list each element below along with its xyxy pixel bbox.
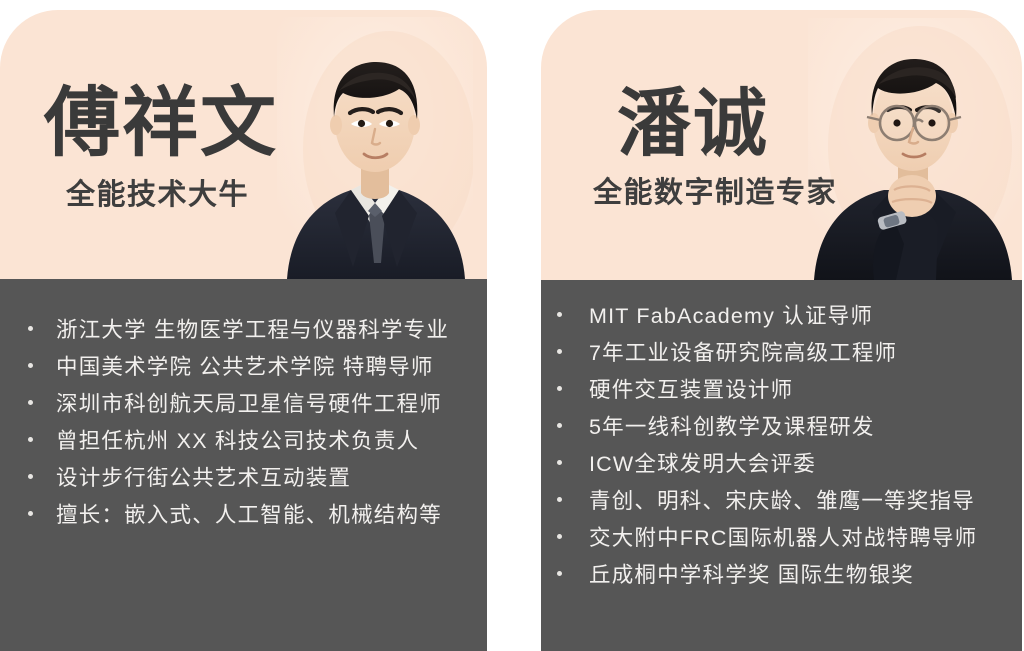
bullet-dot-icon xyxy=(28,400,33,405)
card-header-text-block: 潘诚 全能数字制造专家 xyxy=(541,88,1022,211)
card-header-text-block: 傅祥文 全能技术大牛 xyxy=(0,88,487,213)
credential-text: 浙江大学 生物医学工程与仪器科学专业 xyxy=(56,312,449,349)
credential-item: 5年一线科创教学及课程研发 xyxy=(541,409,1022,446)
bullet-dot-icon xyxy=(557,349,562,354)
bullet-dot-icon xyxy=(28,437,33,442)
card-body-pan-cheng: MIT FabAcademy 认证导师 7年工业设备研究院高级工程师 硬件交互装… xyxy=(541,280,1022,651)
credential-text: MIT FabAcademy 认证导师 xyxy=(589,298,873,335)
credential-item: 浙江大学 生物医学工程与仪器科学专业 xyxy=(0,312,487,349)
credential-text: ICW全球发明大会评委 xyxy=(589,446,816,483)
instructor-profile-cards-panel: 傅祥文 全能技术大牛 xyxy=(0,0,1024,651)
instructor-name: 傅祥文 xyxy=(44,88,487,161)
credential-text: 擅长：嵌入式、人工智能、机械结构等 xyxy=(56,497,442,534)
credential-text: 交大附中FRC国际机器人对战特聘导师 xyxy=(589,520,977,557)
bullet-dot-icon xyxy=(28,363,33,368)
bullet-dot-icon xyxy=(557,460,562,465)
instructor-card-fu-xiangwen: 傅祥文 全能技术大牛 xyxy=(0,10,487,651)
credential-text: 青创、明科、宋庆龄、雏鹰一等奖指导 xyxy=(589,483,975,520)
bullet-dot-icon xyxy=(557,312,562,317)
credential-item: ICW全球发明大会评委 xyxy=(541,446,1022,483)
credential-item: 擅长：嵌入式、人工智能、机械结构等 xyxy=(0,497,487,534)
instructor-card-pan-cheng: 潘诚 全能数字制造专家 xyxy=(541,10,1022,651)
bullet-dot-icon xyxy=(557,386,562,391)
bullet-dot-icon xyxy=(557,497,562,502)
credential-list-pan-cheng: MIT FabAcademy 认证导师 7年工业设备研究院高级工程师 硬件交互装… xyxy=(541,298,1022,594)
credential-item: 丘成桐中学科学奖 国际生物银奖 xyxy=(541,557,1022,594)
bullet-dot-icon xyxy=(557,534,562,539)
bullet-dot-icon xyxy=(557,571,562,576)
card-header-fu-xiangwen: 傅祥文 全能技术大牛 xyxy=(0,10,487,279)
instructor-tagline: 全能技术大牛 xyxy=(44,171,487,213)
credential-text: 设计步行街公共艺术互动装置 xyxy=(56,460,351,497)
credential-text: 中国美术学院 公共艺术学院 特聘导师 xyxy=(56,349,434,386)
credential-text: 曾担任杭州 XX 科技公司技术负责人 xyxy=(56,423,419,460)
credential-item: 设计步行街公共艺术互动装置 xyxy=(0,460,487,497)
bullet-dot-icon xyxy=(28,474,33,479)
credential-item: 曾担任杭州 XX 科技公司技术负责人 xyxy=(0,423,487,460)
credential-item: 7年工业设备研究院高级工程师 xyxy=(541,335,1022,372)
credential-text: 深圳市科创航天局卫星信号硬件工程师 xyxy=(56,386,442,423)
credential-item: MIT FabAcademy 认证导师 xyxy=(541,298,1022,335)
instructor-name: 潘诚 xyxy=(589,88,1022,159)
credential-list-fu-xiangwen: 浙江大学 生物医学工程与仪器科学专业 中国美术学院 公共艺术学院 特聘导师 深圳… xyxy=(0,312,487,534)
credential-text: 硬件交互装置设计师 xyxy=(589,372,793,409)
bullet-dot-icon xyxy=(557,423,562,428)
card-header-pan-cheng: 潘诚 全能数字制造专家 xyxy=(541,10,1022,280)
credential-item: 硬件交互装置设计师 xyxy=(541,372,1022,409)
credential-text: 5年一线科创教学及课程研发 xyxy=(589,409,875,446)
credential-item: 中国美术学院 公共艺术学院 特聘导师 xyxy=(0,349,487,386)
card-body-fu-xiangwen: 浙江大学 生物医学工程与仪器科学专业 中国美术学院 公共艺术学院 特聘导师 深圳… xyxy=(0,279,487,651)
credential-text: 丘成桐中学科学奖 国际生物银奖 xyxy=(589,557,914,594)
bullet-dot-icon xyxy=(28,326,33,331)
credential-item: 青创、明科、宋庆龄、雏鹰一等奖指导 xyxy=(541,483,1022,520)
credential-item: 深圳市科创航天局卫星信号硬件工程师 xyxy=(0,386,487,423)
credential-item: 交大附中FRC国际机器人对战特聘导师 xyxy=(541,520,1022,557)
instructor-tagline: 全能数字制造专家 xyxy=(589,169,1022,211)
credential-text: 7年工业设备研究院高级工程师 xyxy=(589,335,897,372)
bullet-dot-icon xyxy=(28,511,33,516)
